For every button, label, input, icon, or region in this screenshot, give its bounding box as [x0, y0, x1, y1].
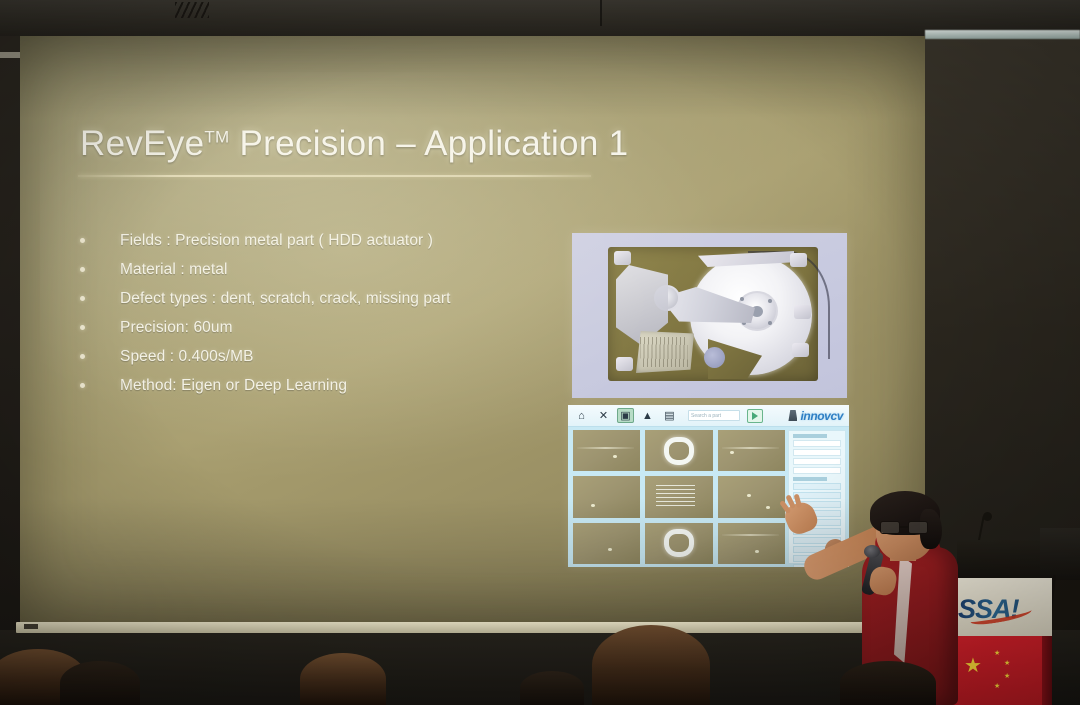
slide-title-trademark: TM — [204, 127, 229, 146]
grid-tile[interactable] — [718, 523, 785, 564]
bullet-dot-icon — [80, 383, 85, 388]
defect-streak — [722, 447, 779, 449]
audience-head — [840, 661, 936, 705]
bullet-list: Fields : Precision metal part ( HDD actu… — [72, 226, 542, 400]
screen-pull-knob — [24, 624, 38, 629]
china-flag: ★ ★ ★ ★ ★ — [950, 636, 1052, 705]
grid-tile[interactable] — [645, 430, 712, 471]
hdd-breather-hole — [704, 347, 725, 368]
grid-tile[interactable] — [573, 476, 640, 517]
hdd-photo — [572, 233, 847, 398]
flag-big-star-icon: ★ — [964, 656, 982, 676]
defect-spot — [613, 455, 617, 458]
audience-head — [300, 653, 386, 705]
play-icon — [752, 412, 758, 420]
ssa-logo: SSA! — [958, 594, 1044, 624]
flag-small-star-icon: ★ — [1004, 660, 1010, 667]
hdd-corner-bracket — [794, 305, 811, 319]
defect-ring — [664, 529, 694, 557]
microphone-head-icon — [864, 545, 880, 558]
hdd-hub-screw — [768, 299, 772, 303]
bullet-label: Material : metal — [120, 261, 228, 279]
run-button[interactable] — [747, 409, 763, 423]
slide-title: RevEyeTM Precision – Application 1 — [80, 124, 628, 164]
defect-spot — [766, 506, 770, 509]
panel-field[interactable] — [793, 449, 841, 456]
panel-field[interactable] — [793, 440, 841, 447]
defect-streak — [577, 447, 634, 449]
alarm-icon[interactable]: ▲ — [639, 408, 656, 423]
list-item: Fields : Precision metal part ( HDD actu… — [72, 226, 542, 255]
defect-spot — [755, 550, 759, 553]
panel-list-item[interactable] — [793, 483, 841, 490]
list-item: Speed : 0.400s/MB — [72, 342, 542, 371]
list-item: Defect types : dent, scratch, crack, mis… — [72, 284, 542, 313]
hdd-chassis — [608, 247, 818, 381]
bullet-label: Precision: 60um — [120, 319, 233, 337]
ceiling-seam — [600, 0, 602, 26]
hdd-corner-bracket — [616, 357, 633, 371]
flag-small-star-icon: ★ — [994, 650, 1000, 657]
glasses-bridge — [900, 526, 908, 528]
glasses-icon — [880, 521, 930, 534]
laptop — [1040, 528, 1080, 580]
bullet-dot-icon — [80, 267, 85, 272]
bullet-label: Speed : 0.400s/MB — [120, 348, 254, 366]
grid-tile[interactable] — [645, 523, 712, 564]
wall-left — [0, 36, 22, 676]
brand-mark-icon — [788, 410, 797, 421]
audience-head — [60, 661, 140, 705]
slide-title-rest: Precision – Application 1 — [230, 124, 629, 163]
grid-tile[interactable] — [718, 476, 785, 517]
grid-tile[interactable] — [573, 523, 640, 564]
defect-streak — [722, 534, 779, 536]
hdd-hub-screw — [768, 321, 772, 325]
slide-title-main: RevEye — [80, 124, 204, 163]
panel-field[interactable] — [793, 467, 841, 474]
grid-tile[interactable] — [718, 430, 785, 471]
tools-icon[interactable]: ✕ — [595, 408, 612, 423]
defect-ring — [664, 437, 694, 465]
hdd-corner-bracket — [614, 251, 631, 265]
ceiling-vent-icon — [175, 2, 209, 18]
hdd-hub-screw — [740, 297, 744, 301]
flag-small-star-icon: ★ — [1004, 673, 1010, 680]
panel-section-header — [793, 434, 827, 438]
flag-shadow-edge — [1042, 636, 1052, 705]
bullet-dot-icon — [80, 325, 85, 330]
title-underline — [78, 175, 591, 177]
podium-microphone-icon — [983, 512, 992, 521]
brand-logo: innovcv — [788, 409, 843, 423]
bullet-dot-icon — [80, 354, 85, 359]
audience-head — [592, 625, 710, 705]
defect-spot — [591, 504, 595, 507]
list-item: Precision: 60um — [72, 313, 542, 342]
brand-text: innovcv — [800, 409, 843, 423]
camera-icon[interactable]: ▣ — [617, 408, 634, 423]
bullet-dot-icon — [80, 238, 85, 243]
list-item: Material : metal — [72, 255, 542, 284]
chart-icon[interactable]: ▤ — [661, 408, 678, 423]
hdd-corner-bracket — [790, 253, 807, 267]
bullet-label: Fields : Precision metal part ( HDD actu… — [120, 232, 433, 250]
presenter-pointing-hand — [781, 498, 820, 537]
grid-tile[interactable] — [573, 430, 640, 471]
glasses-lens-right — [908, 521, 928, 534]
defect-comb-pattern — [656, 485, 695, 508]
defect-spot — [608, 548, 612, 551]
defect-spot — [730, 451, 734, 454]
bullet-label: Defect types : dent, scratch, crack, mis… — [120, 290, 451, 308]
audience-head — [520, 671, 584, 705]
list-item: Method: Eigen or Deep Learning — [72, 371, 542, 400]
glasses-lens-left — [880, 521, 900, 534]
conference-room-scene: RevEyeTM Precision – Application 1 Field… — [0, 0, 1080, 705]
strip-light — [925, 30, 1080, 39]
search-input[interactable]: Search a part — [688, 410, 740, 421]
flag-small-star-icon: ★ — [994, 683, 1000, 690]
bullet-dot-icon — [80, 296, 85, 301]
panel-section-header — [793, 477, 827, 481]
grid-tile[interactable] — [645, 476, 712, 517]
defect-spot — [747, 494, 751, 497]
panel-field[interactable] — [793, 458, 841, 465]
hdd-pcb-traces — [640, 337, 688, 367]
home-icon[interactable]: ⌂ — [573, 408, 590, 423]
hdd-corner-bracket — [792, 343, 809, 357]
inspection-image-grid — [573, 430, 785, 564]
software-toolbar: ⌂ ✕ ▣ ▲ ▤ Search a part innovcv — [568, 405, 849, 427]
bullet-label: Method: Eigen or Deep Learning — [120, 377, 347, 395]
